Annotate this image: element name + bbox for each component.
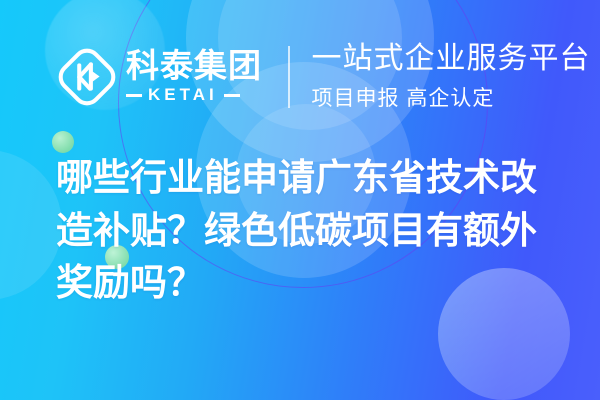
logo-rule-left-icon [126,94,142,97]
banner-header: 科泰集团 KETAI 一站式企业服务平台 项目申报 高企认定 [56,38,591,116]
headline-text: 哪些行业能申请广东省技术改造补贴？绿色低碳项目有额外奖励吗？ [56,152,556,310]
logo-company-name-cn: 科泰集团 [126,49,262,83]
logo-wordmark: 科泰集团 KETAI [126,49,262,106]
tagline-sub: 项目申报 高企认定 [312,82,591,112]
logo-rule-right-icon [224,94,240,97]
promo-banner: 科泰集团 KETAI 一站式企业服务平台 项目申报 高企认定 哪些行业能申请广东… [0,0,600,400]
tagline-main: 一站式企业服务平台 [312,42,591,77]
decorative-circle-left [0,150,62,300]
logo-company-name-en-row: KETAI [126,85,262,105]
tagline-block: 一站式企业服务平台 项目申报 高企认定 [312,42,591,112]
decorative-green-dot-upper [52,131,74,153]
ketai-diamond-kp-logo-icon [56,46,118,108]
logo-company-name-en: KETAI [148,85,218,105]
header-divider [288,46,290,108]
